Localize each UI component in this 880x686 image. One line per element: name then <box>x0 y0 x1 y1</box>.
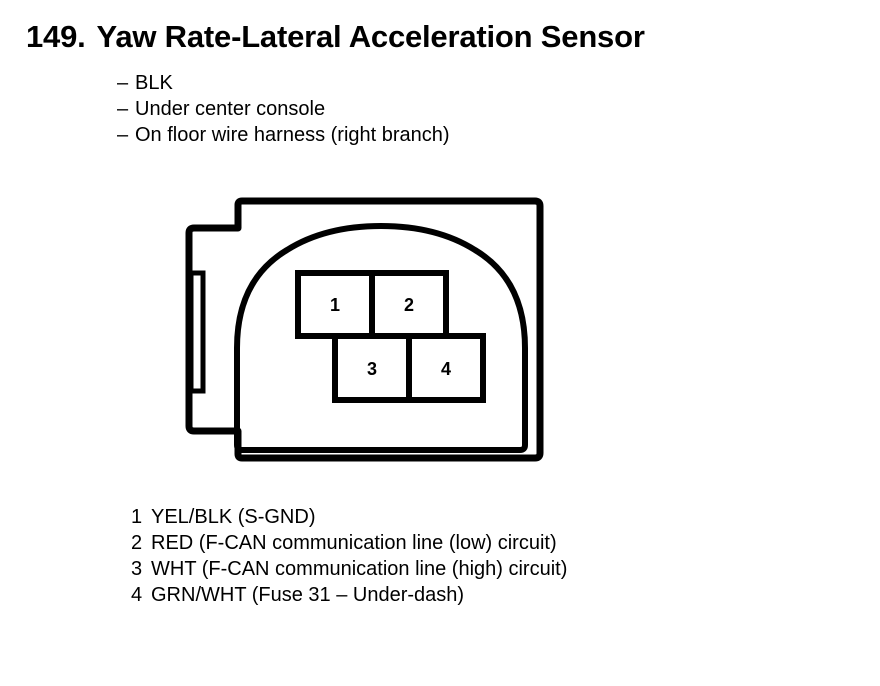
terminal-label-3: 3 <box>367 359 377 379</box>
spec-item: – BLK <box>117 70 717 96</box>
page-title: 149.Yaw Rate-Lateral Acceleration Sensor <box>26 19 645 55</box>
dash-icon: – <box>117 96 135 122</box>
page-title-text: Yaw Rate-Lateral Acceleration Sensor <box>97 19 645 54</box>
legend-item: 2 RED (F-CAN communication line (low) ci… <box>131 530 851 556</box>
legend-item-label: YEL/BLK (S-GND) <box>151 504 315 530</box>
terminal-label-2: 2 <box>404 295 414 315</box>
connector-diagram: 1 2 3 4 <box>180 193 552 468</box>
tab-slot <box>191 273 203 391</box>
legend-item-number: 4 <box>131 582 151 608</box>
legend-item: 4 GRN/WHT (Fuse 31 – Under-dash) <box>131 582 851 608</box>
legend-item-number: 1 <box>131 504 151 530</box>
dash-icon: – <box>117 122 135 148</box>
spec-item-label: BLK <box>135 70 173 96</box>
legend-item-number: 3 <box>131 556 151 582</box>
legend-item: 1 YEL/BLK (S-GND) <box>131 504 851 530</box>
terminal-label-1: 1 <box>330 295 340 315</box>
legend-item-label: WHT (F-CAN communication line (high) cir… <box>151 556 567 582</box>
legend-item-label: RED (F-CAN communication line (low) circ… <box>151 530 557 556</box>
terminal-label-4: 4 <box>441 359 451 379</box>
dash-icon: – <box>117 70 135 96</box>
legend-item-label: GRN/WHT (Fuse 31 – Under-dash) <box>151 582 464 608</box>
legend-item: 3 WHT (F-CAN communication line (high) c… <box>131 556 851 582</box>
spec-list: – BLK – Under center console – On floor … <box>117 70 717 148</box>
pin-legend: 1 YEL/BLK (S-GND) 2 RED (F-CAN communica… <box>131 504 851 608</box>
spec-item-label: On floor wire harness (right branch) <box>135 122 450 148</box>
page-title-number: 149. <box>26 19 86 54</box>
legend-item-number: 2 <box>131 530 151 556</box>
spec-item: – Under center console <box>117 96 717 122</box>
spec-item-label: Under center console <box>135 96 325 122</box>
manual-page: 149.Yaw Rate-Lateral Acceleration Sensor… <box>0 0 880 686</box>
spec-item: – On floor wire harness (right branch) <box>117 122 717 148</box>
